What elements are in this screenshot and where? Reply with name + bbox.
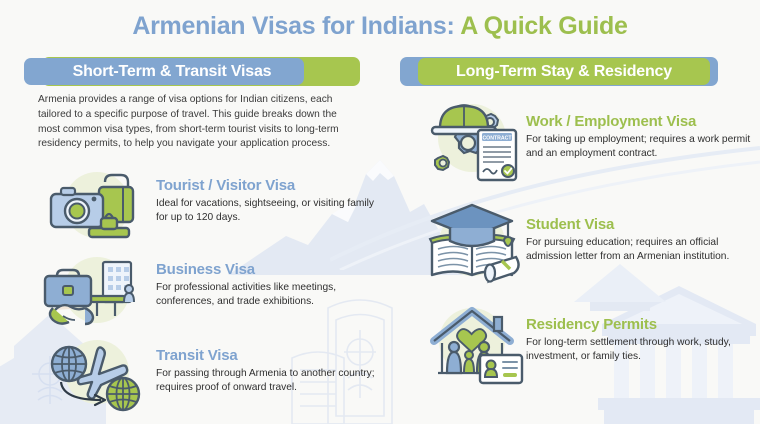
camera-suitcase-stamp-icon (38, 168, 156, 242)
item-title: Work / Employment Visa (526, 114, 760, 131)
item-title: Student Visa (526, 217, 760, 234)
briefcase-handshake-office-icon (38, 252, 156, 326)
left-column: Armenia provides a range of visa options… (38, 93, 378, 412)
badge-right-pill: Long-Term Stay & Residency (418, 58, 710, 85)
item-description: For passing through Armenia to another c… (156, 367, 378, 396)
intro-paragraph: Armenia provides a range of visa options… (38, 93, 356, 152)
item-description: Ideal for vacations, sightseeing, or vis… (156, 197, 378, 226)
section-headers: Short-Term & Transit Visas Long-Term Sta… (0, 57, 760, 87)
item-description: For taking up employment; requires a wor… (526, 133, 760, 162)
house-family-idcard-icon (422, 299, 526, 385)
list-item-student-visa: Student Visa For pursuing education; req… (422, 199, 760, 285)
item-title: Transit Visa (156, 348, 378, 365)
right-column: CONTRACT Work / Employment Visa For taki… (422, 96, 760, 385)
hardhat-gears-contract-icon: CONTRACT (422, 96, 526, 182)
item-title: Business Visa (156, 262, 378, 279)
item-description: For pursuing education; requires an offi… (526, 236, 760, 265)
item-title: Residency Permits (526, 317, 760, 334)
list-item-work-visa: CONTRACT Work / Employment Visa For taki… (422, 96, 760, 182)
page-title: Armenian Visas for Indians: A Quick Guid… (0, 12, 760, 41)
page-title-part2: A Quick Guide (460, 12, 627, 40)
section-header-short-term: Short-Term & Transit Visas (42, 57, 360, 86)
section-header-long-term: Long-Term Stay & Residency (400, 57, 718, 86)
item-description: For long-term settlement through work, s… (526, 336, 760, 365)
list-item-business-visa: Business Visa For professional activitie… (38, 252, 378, 326)
item-description: For professional activities like meeting… (156, 281, 378, 310)
badge-right-label: Long-Term Stay & Residency (456, 63, 672, 81)
badge-left-pill: Short-Term & Transit Visas (24, 58, 304, 85)
badge-left-label: Short-Term & Transit Visas (57, 63, 272, 81)
graduation-cap-book-diploma-icon (422, 199, 526, 285)
list-item-residency-permits: Residency Permits For long-term settleme… (422, 299, 760, 385)
list-item-tourist-visa: Tourist / Visitor Visa Ideal for vacatio… (38, 168, 378, 242)
page-title-part1: Armenian Visas for Indians: (132, 12, 454, 40)
item-title: Tourist / Visitor Visa (156, 178, 378, 195)
contract-label: CONTRACT (482, 136, 512, 142)
list-item-transit-visa: Transit Visa For passing through Armenia… (38, 338, 378, 412)
globes-airplane-icon (38, 338, 156, 412)
